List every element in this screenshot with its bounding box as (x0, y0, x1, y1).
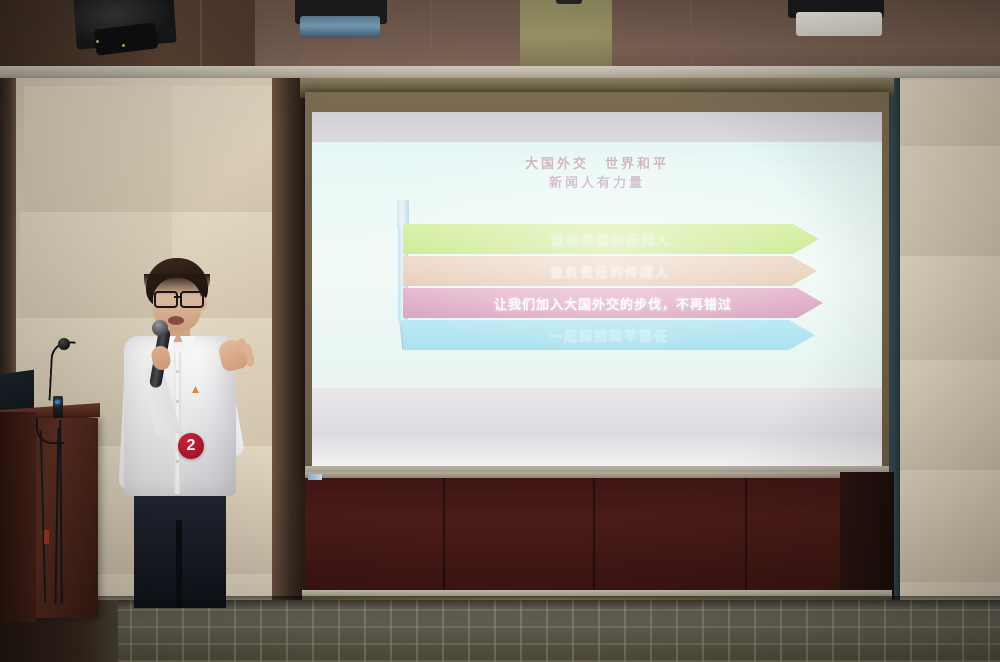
acoustic-panel (896, 256, 1000, 361)
slide-title-line-2: 新闻人有力量 (312, 173, 882, 192)
slide-title-line-1: 大国外交 世界和平 (312, 154, 882, 173)
slide-bar-4-text: 一起拥抱和平重任 (549, 326, 669, 345)
glasses-lens-right (180, 291, 204, 308)
shirt-button (176, 460, 179, 463)
slide-bar-3: 让我们加入大国外交的步伐，不再错过 (403, 288, 823, 318)
slide-bar-group: 做有思想的新闻人 做负责任的传媒人 让我们加入大国外交的步伐，不再错过 一起拥抱… (395, 200, 825, 350)
contestant-number-badge: 2 (178, 433, 204, 459)
slide-bar-2-text: 做负责任的传媒人 (550, 262, 670, 281)
badge-number: 2 (187, 438, 196, 454)
speaker-leg-gap (176, 520, 182, 608)
wainscot-seam (593, 478, 595, 596)
acoustic-panel (896, 80, 1000, 147)
ceiling-mount-bracket (556, 0, 582, 4)
ceiling-seam (200, 0, 202, 72)
presentation-photo: 大国外交 世界和平 新闻人有力量 做有思想的新闻人 做负责任的传媒人 让我们加入… (0, 0, 1000, 662)
slide-bar-3-text: 让我们加入大国外交的步伐，不再错过 (494, 294, 732, 313)
ceiling-beam (520, 0, 620, 70)
light-lens-glint (96, 40, 99, 43)
acoustic-panel (24, 86, 173, 213)
pen-cap (397, 200, 409, 228)
slide-bar-1-text: 做有思想的新闻人 (551, 230, 671, 249)
light-lens-glint (122, 44, 125, 47)
acoustic-panel (896, 146, 1000, 257)
carpet-pattern (0, 600, 1000, 662)
wall-plate-icon (308, 474, 322, 480)
wainscot-shadow-right (840, 472, 894, 600)
screen-top-band (312, 112, 882, 142)
slide-bar-1: 做有思想的新闻人 (403, 224, 819, 254)
wall-right (890, 78, 1000, 662)
ceiling-seam (430, 0, 432, 72)
slide-bar-4: 一起拥抱和平重任 (403, 320, 815, 350)
wainscot-panels (305, 478, 889, 596)
speaker-mouth (168, 316, 184, 325)
ceiling-seam (690, 0, 692, 72)
acoustic-panel (896, 470, 1000, 583)
wall-column-left (272, 78, 306, 638)
cable-tag (44, 530, 49, 544)
finger (247, 353, 255, 367)
projector-lens-panel (300, 16, 380, 38)
shirt-button (176, 370, 179, 373)
slide-bar-2: 做负责任的传媒人 (403, 256, 817, 286)
glasses-icon (152, 291, 204, 305)
microphone-capsule (58, 338, 70, 350)
acoustic-panel (896, 360, 1000, 471)
shirt-button (176, 400, 179, 403)
slide-title: 大国外交 世界和平 新闻人有力量 (312, 154, 882, 192)
speaker-face-panel (796, 12, 882, 36)
speaker-person: 2 (108, 258, 258, 602)
wainscot-seam (745, 478, 747, 596)
wainscot-seam (443, 478, 445, 596)
glasses-lens-left (154, 291, 178, 308)
podium-side (0, 412, 36, 622)
screen-bottom-band (312, 388, 882, 466)
